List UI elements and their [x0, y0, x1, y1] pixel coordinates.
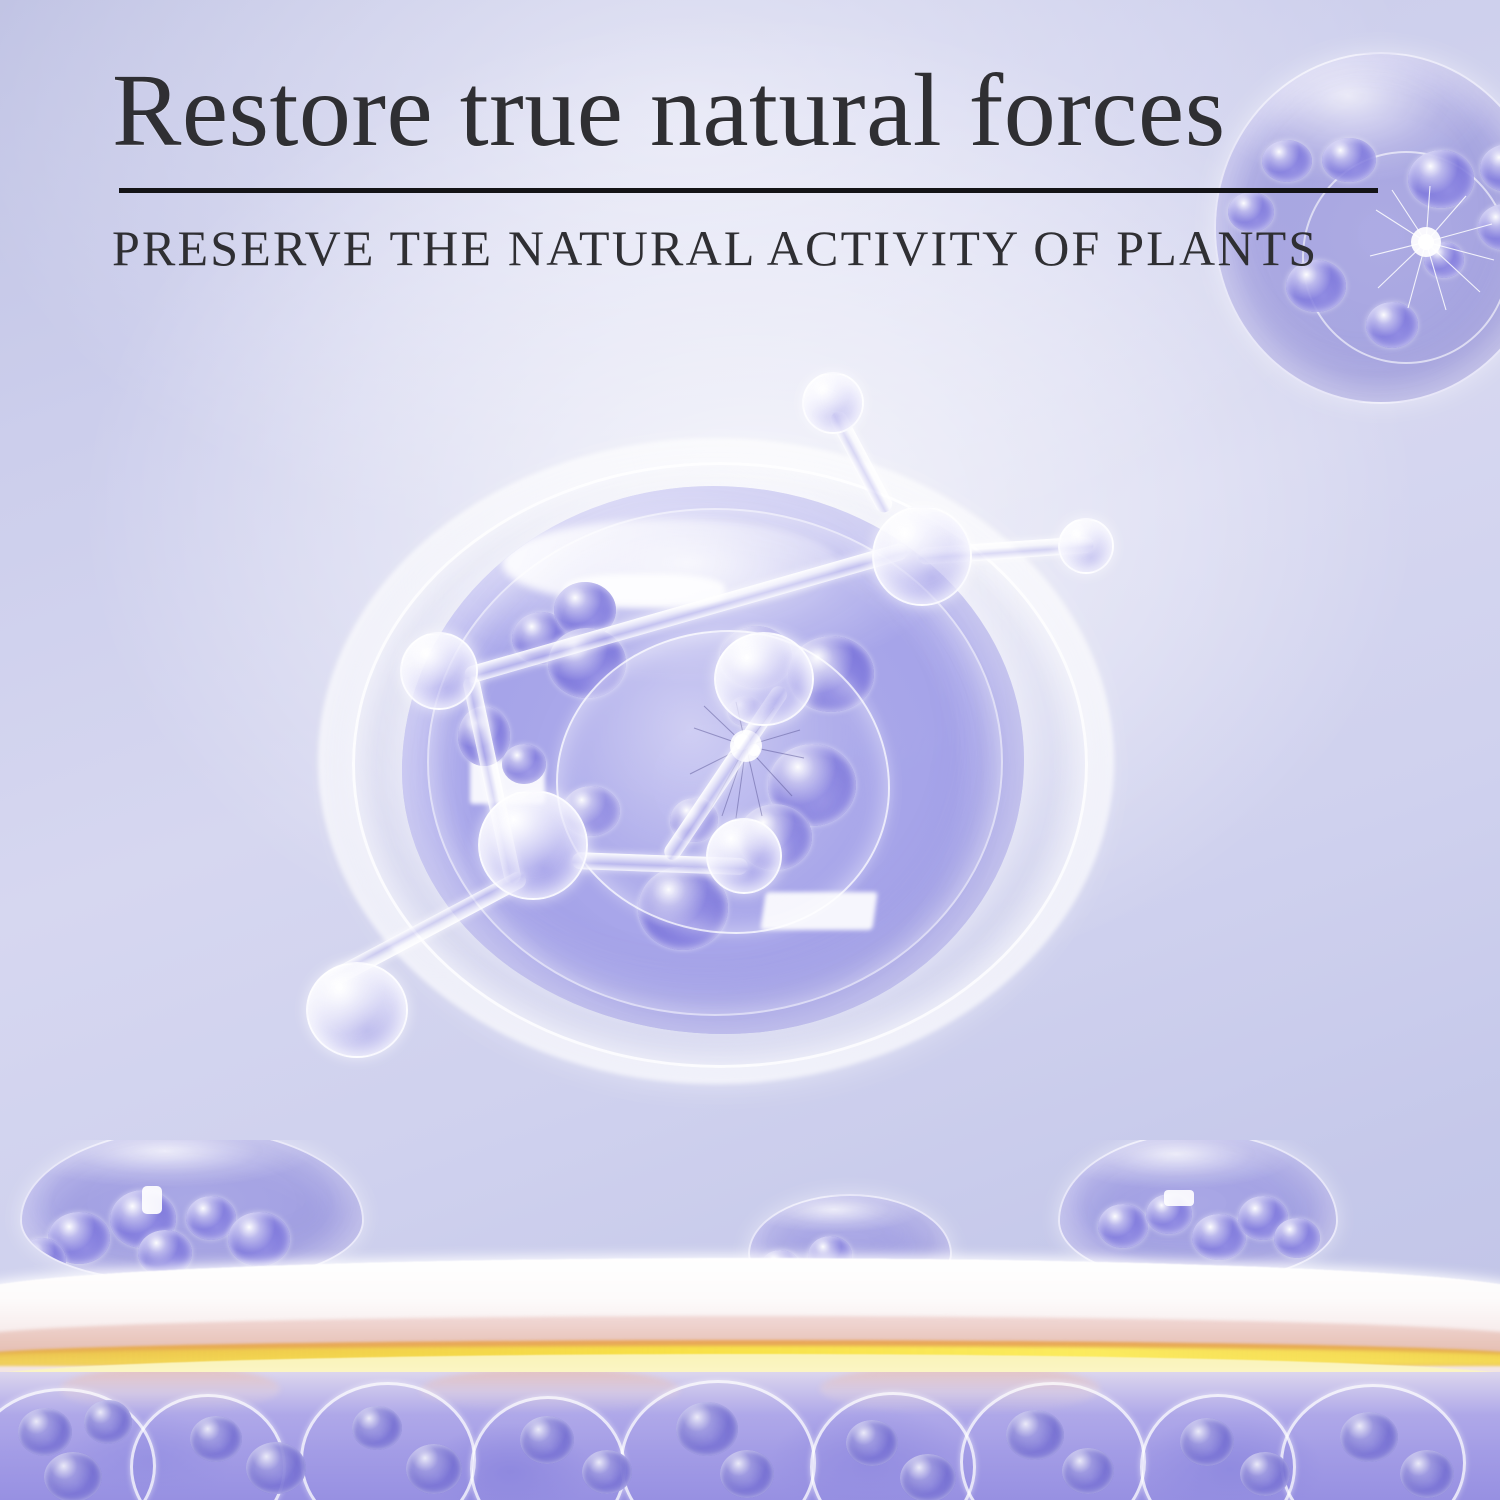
molecule-node: [714, 632, 814, 726]
page-subtitle: PRESERVE THE NATURAL ACTIVITY OF PLANTS: [112, 222, 1402, 275]
serum-dome: [1058, 1140, 1338, 1280]
droplet: [1098, 1204, 1148, 1248]
page-title: Restore true natural forces: [112, 58, 1402, 164]
cell-blob: [1240, 1452, 1290, 1496]
cell-blob: [190, 1416, 242, 1462]
cell-blob: [44, 1452, 102, 1500]
cell-blob: [520, 1416, 574, 1464]
molecule-node: [478, 790, 588, 900]
cell-blob: [720, 1450, 774, 1498]
molecule-node: [306, 962, 408, 1058]
cell-blob: [18, 1408, 72, 1456]
droplet: [228, 1212, 290, 1266]
cell-blob: [900, 1454, 956, 1500]
cell-blob: [352, 1406, 402, 1450]
title-divider: [119, 188, 1378, 193]
droplet: [20, 1238, 66, 1282]
molecule-node: [802, 372, 864, 434]
cell-blob: [1006, 1410, 1064, 1460]
cell-blob: [84, 1400, 132, 1444]
skin-cross-section: [0, 1140, 1500, 1500]
droplet: [502, 744, 546, 784]
dermal-cell-layer: [0, 1372, 1500, 1500]
cell-blob: [676, 1402, 738, 1456]
molecule-node: [872, 506, 972, 606]
poster-canvas: Restore true natural forces PRESERVE THE…: [0, 0, 1500, 1500]
dome-highlight: [1164, 1190, 1194, 1206]
cell-blob: [1180, 1418, 1234, 1466]
cell-blob: [406, 1444, 462, 1494]
dome-highlight: [142, 1186, 162, 1214]
cell-blob: [1062, 1448, 1114, 1494]
cell-blob: [846, 1420, 898, 1466]
cell-blob: [246, 1442, 306, 1494]
molecule-node: [400, 632, 478, 710]
droplet: [1274, 1218, 1320, 1258]
cell-blob: [1400, 1450, 1454, 1498]
serum-dome: [20, 1140, 364, 1282]
cell-blob: [1340, 1412, 1398, 1462]
molecule-node: [1058, 518, 1114, 574]
cell-blob: [582, 1450, 632, 1494]
molecule-node: [706, 818, 782, 894]
